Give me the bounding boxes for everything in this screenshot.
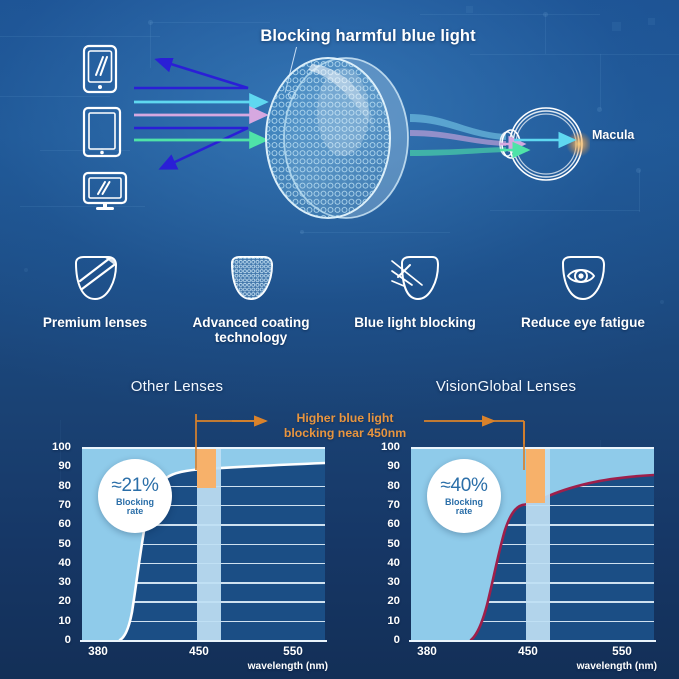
orange-marker-box xyxy=(526,447,545,503)
feature-row: Premium lenses Advanced c xyxy=(0,252,679,362)
tablet-icon xyxy=(82,106,122,158)
monitor-icon xyxy=(82,171,128,213)
y-axis-ticks-right: 100 90 80 70 60 50 40 30 20 10 0 xyxy=(341,447,405,640)
blue-light-block-icon xyxy=(330,252,500,306)
x-axis-label: wavelength (nm) xyxy=(341,661,671,672)
y-tick: 70 xyxy=(387,499,400,511)
feature-label: Reduce eye fatigue xyxy=(498,315,668,330)
caption-line2: rate xyxy=(456,506,473,516)
eye-anatomy-icon xyxy=(494,98,590,190)
chart-title: VisionGlobal Lenses xyxy=(341,378,671,395)
y-tick: 10 xyxy=(387,615,400,627)
blocking-rate-badge-left: ≈21% Blocking rate xyxy=(98,459,172,533)
feature-item-premium-lenses[interactable]: Premium lenses xyxy=(10,252,180,330)
y-tick: 60 xyxy=(387,518,400,530)
y-tick: 20 xyxy=(58,595,71,607)
feature-label: Blue light blocking xyxy=(330,315,500,330)
blocking-rate-caption: Blocking rate xyxy=(445,498,483,517)
blocking-rate-value: ≈21% xyxy=(111,476,158,495)
y-tick: 0 xyxy=(65,634,71,646)
eye-comfort-icon xyxy=(498,252,668,306)
macula-label: Macula xyxy=(592,128,634,142)
y-tick: 70 xyxy=(58,499,71,511)
x-axis-line xyxy=(80,640,327,642)
feature-item-advanced-coating[interactable]: Advanced coating technology xyxy=(166,252,336,345)
y-tick: 60 xyxy=(58,518,71,530)
hero-illustration: Blocking harmful blue light xyxy=(0,0,679,250)
x-tick: 450 xyxy=(518,644,538,658)
y-tick: 10 xyxy=(58,615,71,627)
x-tick: 380 xyxy=(417,644,437,658)
feature-item-blue-light-blocking[interactable]: Blue light blocking xyxy=(330,252,500,330)
device-icon-group xyxy=(82,44,134,212)
y-axis-ticks-left: 100 90 80 70 60 50 40 30 20 10 0 xyxy=(12,447,76,640)
y-tick: 80 xyxy=(387,480,400,492)
y-tick: 100 xyxy=(381,441,400,453)
x-tick: 550 xyxy=(612,644,632,658)
plot-top-border xyxy=(411,447,654,449)
x-tick: 380 xyxy=(88,644,108,658)
y-tick: 30 xyxy=(387,576,400,588)
annotation-text: Higher blue light blocking near 450nm xyxy=(272,411,418,440)
x-tick: 550 xyxy=(283,644,303,658)
infographic-page: Blocking harmful blue light xyxy=(0,0,679,679)
chart-title: Other Lenses xyxy=(12,378,342,395)
x-axis-line xyxy=(409,640,656,642)
feature-label: Premium lenses xyxy=(10,315,180,330)
blocking-rate-caption: Blocking rate xyxy=(116,498,154,517)
feature-item-reduce-eye-fatigue[interactable]: Reduce eye fatigue xyxy=(498,252,668,330)
x-tick: 450 xyxy=(189,644,209,658)
plot-area-left: ≈21% Blocking rate xyxy=(82,447,325,640)
annotation-line-2: blocking near 450nm xyxy=(272,426,418,441)
y-tick: 40 xyxy=(387,557,400,569)
y-tick: 40 xyxy=(58,557,71,569)
lens-shine-icon xyxy=(10,252,180,306)
plot-top-border xyxy=(82,447,325,449)
blocking-rate-badge-right: ≈40% Blocking rate xyxy=(427,459,501,533)
y-tick: 90 xyxy=(58,460,71,472)
orange-marker-box xyxy=(197,447,216,488)
y-tick: 80 xyxy=(58,480,71,492)
caption-line2: rate xyxy=(127,506,144,516)
y-tick: 90 xyxy=(387,460,400,472)
smartphone-icon xyxy=(82,44,118,94)
y-tick: 100 xyxy=(52,441,71,453)
hero-title: Blocking harmful blue light xyxy=(252,27,484,46)
coating-mesh-icon xyxy=(166,252,336,306)
y-tick: 30 xyxy=(58,576,71,588)
feature-label: Advanced coating technology xyxy=(166,315,336,345)
y-tick: 20 xyxy=(387,595,400,607)
blocking-rate-value: ≈40% xyxy=(440,476,487,495)
x-axis-label: wavelength (nm) xyxy=(12,661,342,672)
plot-area-right: ≈40% Blocking rate xyxy=(411,447,654,640)
y-tick: 50 xyxy=(58,538,71,550)
y-tick: 0 xyxy=(394,634,400,646)
y-tick: 50 xyxy=(387,538,400,550)
annotation-line-1: Higher blue light xyxy=(272,411,418,426)
